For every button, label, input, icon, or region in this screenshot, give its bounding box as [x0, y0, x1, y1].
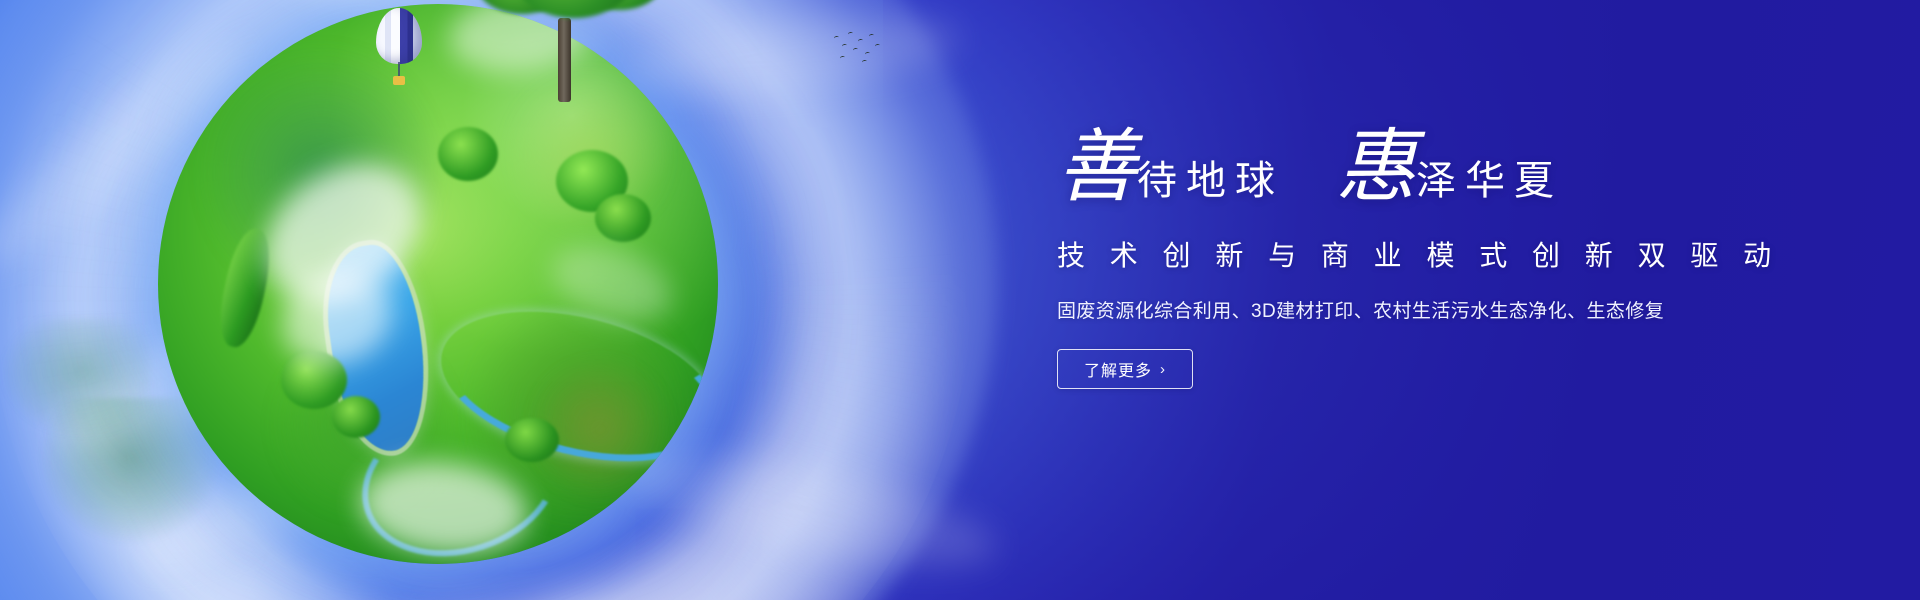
learn-more-label: 了解更多: [1084, 357, 1152, 381]
headline-accent-char: 善: [1057, 128, 1137, 208]
hero-banner: 善 待地球 惠 泽华夏 技 术 创 新 与 商 业 模 式 创 新 双 驱 动 …: [0, 0, 1920, 600]
description-text: 固废资源化综合利用、3D建材打印、农村生活污水生态净化、生态修复: [1057, 296, 1697, 323]
headline-accent-char: 惠: [1336, 128, 1416, 208]
headline-phrase-one: 善 待地球: [1057, 128, 1284, 208]
chevron-right-icon: ›: [1160, 362, 1166, 377]
learn-more-button[interactable]: 了解更多 ›: [1057, 349, 1193, 389]
sub-headline: 技 术 创 新 与 商 业 模 式 创 新 双 驱 动: [1057, 234, 1697, 274]
headline: 善 待地球 惠 泽华夏: [1057, 128, 1697, 228]
hero-copy: 善 待地球 惠 泽华夏 技 术 创 新 与 商 业 模 式 创 新 双 驱 动 …: [1057, 128, 1697, 389]
headline-phrase-two: 惠 泽华夏: [1336, 128, 1563, 208]
headline-rest-text: 待地球: [1137, 148, 1284, 206]
headline-rest-text: 泽华夏: [1416, 148, 1563, 206]
